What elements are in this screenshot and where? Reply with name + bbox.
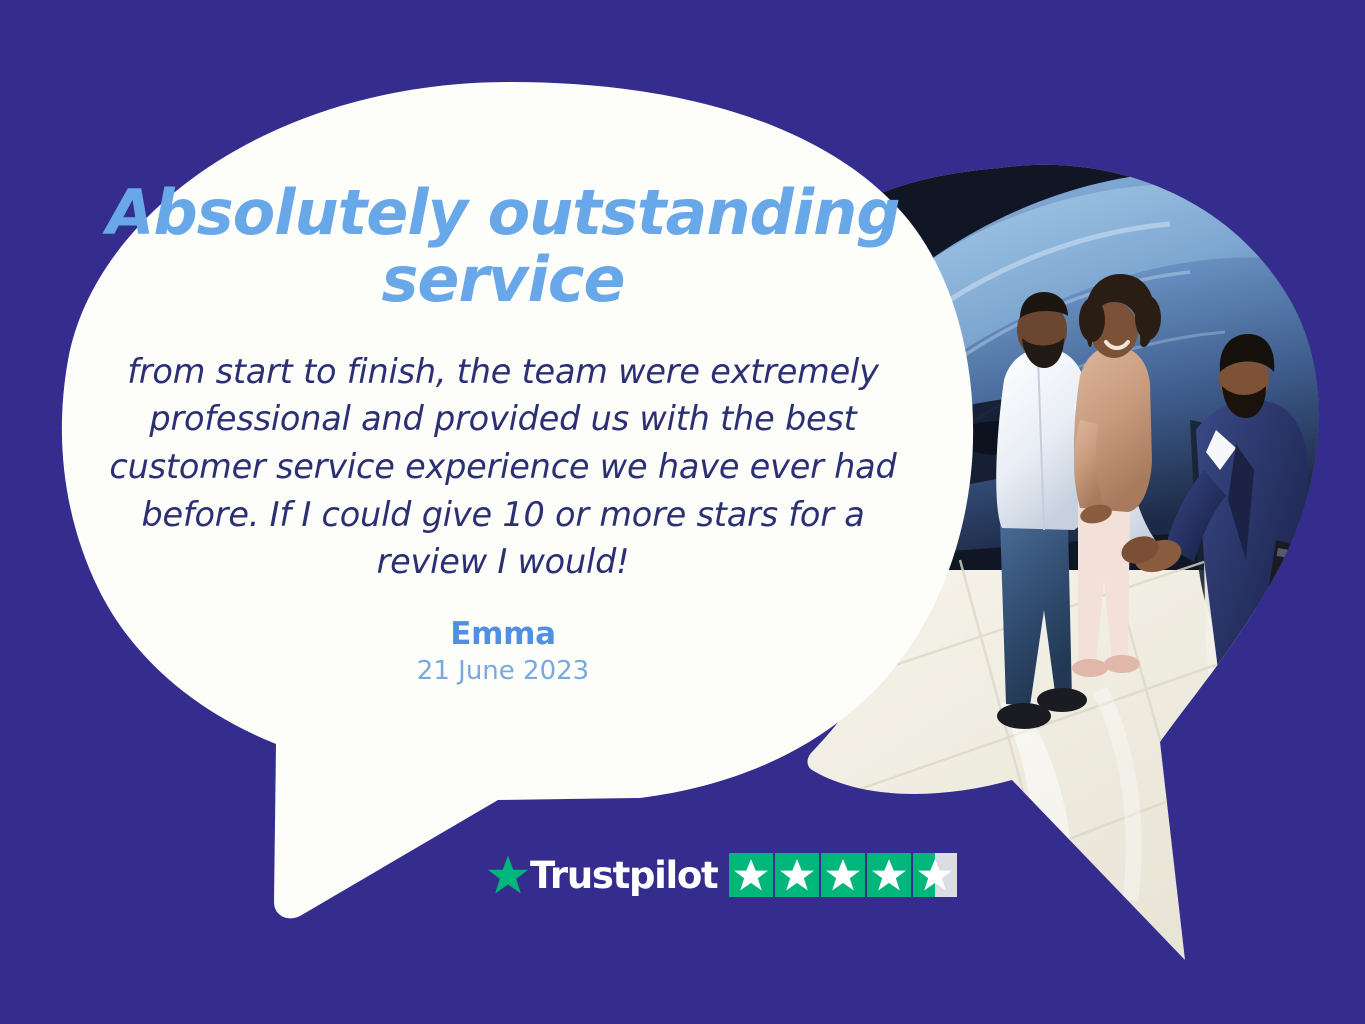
reviewer-name: Emma [78,616,928,652]
review-text-block: Absolutely outstanding service from star… [78,180,928,686]
rating-star-5-half[interactable] [913,853,957,897]
rating-star-4[interactable] [867,853,911,897]
rating-star-2[interactable] [775,853,819,897]
review-headline: Absolutely outstanding service [78,180,928,314]
trustpilot-star-rating[interactable] [729,853,957,897]
review-date: 21 June 2023 [78,656,928,686]
trustpilot-rating-widget[interactable]: Trustpilot [487,851,957,899]
rating-star-3[interactable] [821,853,865,897]
trustpilot-star-icon [487,854,529,896]
review-card: Absolutely outstanding service from star… [0,0,1365,1024]
review-body-text: from start to finish, the team were extr… [78,348,928,586]
trustpilot-logo[interactable]: Trustpilot [487,851,717,899]
rating-star-1[interactable] [729,853,773,897]
trustpilot-wordmark: Trustpilot [530,857,717,894]
